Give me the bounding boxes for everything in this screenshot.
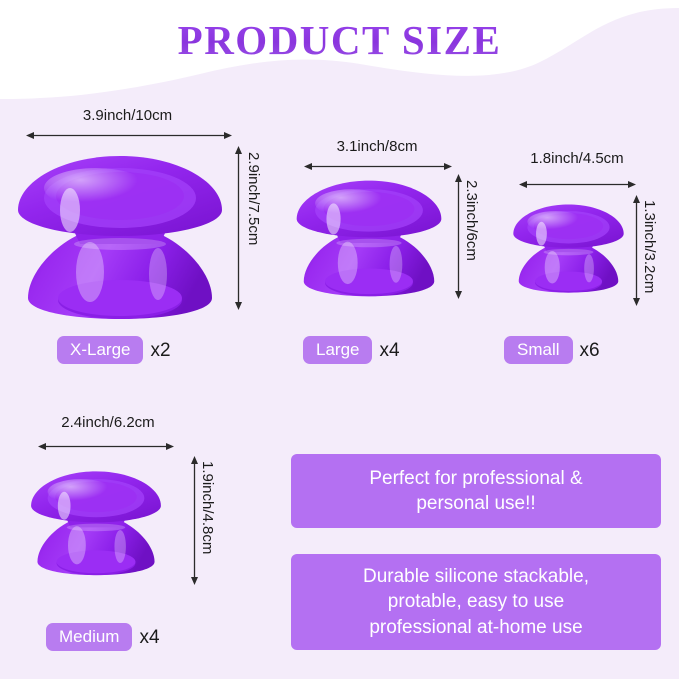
dimension-width-label-xlarge: 3.9inch/10cm: [20, 107, 235, 124]
cupping-cup-medium: [26, 456, 166, 588]
quantity-label-xlarge: x2: [150, 341, 170, 360]
cupping-cup-xlarge: [10, 148, 230, 323]
size-badge-xlarge: X-Large: [57, 336, 143, 364]
badge-row-small: Small x6: [504, 336, 600, 364]
product-cell-large: 3.1inch/8cm 2.3inch/6cm: [283, 135, 483, 385]
dimension-width-arrow-medium: [38, 442, 174, 451]
feature-box-professional-use: Perfect for professional & personal use!…: [291, 454, 661, 528]
badge-row-xlarge: X-Large x2: [57, 336, 171, 364]
dimension-height-label-medium: 1.9inch/4.8cm: [199, 461, 216, 554]
cupping-cup-large: [291, 173, 447, 301]
dimension-height-arrow-small: [632, 195, 641, 306]
cupping-cup-small: [509, 195, 628, 300]
dimension-width-label-small: 1.8inch/4.5cm: [502, 150, 652, 167]
dimension-height-label-small: 1.3inch/3.2cm: [641, 200, 658, 293]
page-title: PRODUCT SIZE: [0, 16, 679, 64]
quantity-label-large: x4: [379, 341, 399, 360]
dimension-width-arrow-xlarge: [26, 131, 232, 140]
dimension-height-arrow-large: [454, 174, 463, 299]
product-cell-xlarge: 3.9inch/10cm 2.9inch/7.5cm: [0, 100, 270, 385]
dimension-width-arrow-small: [519, 180, 636, 189]
dimension-width-arrow-large: [304, 162, 452, 171]
size-badge-small: Small: [504, 336, 573, 364]
size-badge-medium: Medium: [46, 623, 132, 651]
badge-row-large: Large x4: [303, 336, 400, 364]
feature-box-durable-silicone: Durable silicone stackable, protable, ea…: [291, 554, 661, 650]
dimension-width-label-large: 3.1inch/8cm: [297, 138, 457, 155]
dimension-width-label-medium: 2.4inch/6.2cm: [18, 414, 198, 431]
size-badge-large: Large: [303, 336, 372, 364]
dimension-height-label-xlarge: 2.9inch/7.5cm: [245, 152, 262, 245]
dimension-height-arrow-medium: [190, 456, 199, 585]
badge-row-medium: Medium x4: [46, 623, 160, 651]
product-size-infographic: PRODUCT SIZE 3.9inch/10cm 2.9inch/7.5cm: [0, 0, 679, 679]
quantity-label-medium: x4: [139, 628, 159, 647]
product-cell-medium: 2.4inch/6.2cm 1.9inch/4.8cm: [0, 408, 260, 670]
quantity-label-small: x6: [580, 341, 600, 360]
product-cell-small: 1.8inch/4.5cm 1.3inch/3.2cm: [492, 145, 679, 385]
dimension-height-arrow-xlarge: [234, 146, 243, 310]
dimension-height-label-large: 2.3inch/6cm: [463, 180, 480, 261]
